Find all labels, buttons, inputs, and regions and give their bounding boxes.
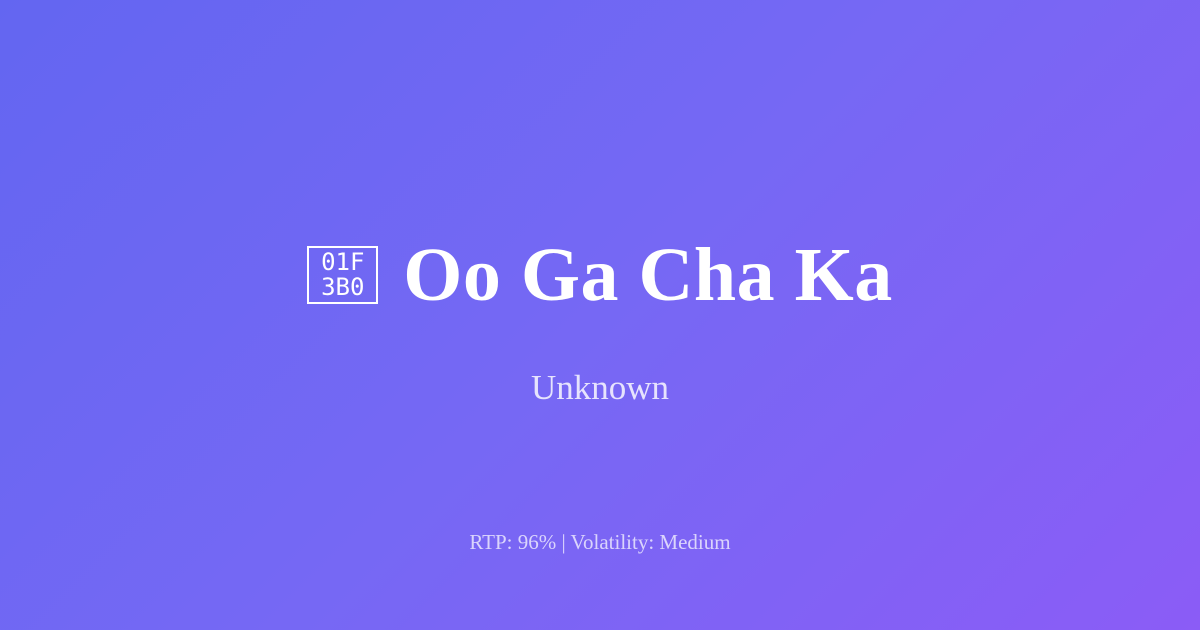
provider-label: Unknown xyxy=(0,367,1200,409)
slot-machine-emoji-tofu-icon: 01F 3B0 xyxy=(307,246,378,304)
game-stats: RTP: 96% | Volatility: Medium xyxy=(0,529,1200,555)
title-row: 01F 3B0 Oo Ga Cha Ka xyxy=(0,232,1200,318)
tofu-codepoint-top: 01F xyxy=(321,250,364,275)
game-info-card: 01F 3B0 Oo Ga Cha Ka Unknown RTP: 96% | … xyxy=(0,0,1200,630)
tofu-codepoint-bottom: 3B0 xyxy=(321,275,364,300)
stats-text: RTP: 96% | Volatility: Medium xyxy=(469,530,730,554)
game-title: Oo Ga Cha Ka xyxy=(403,232,893,318)
